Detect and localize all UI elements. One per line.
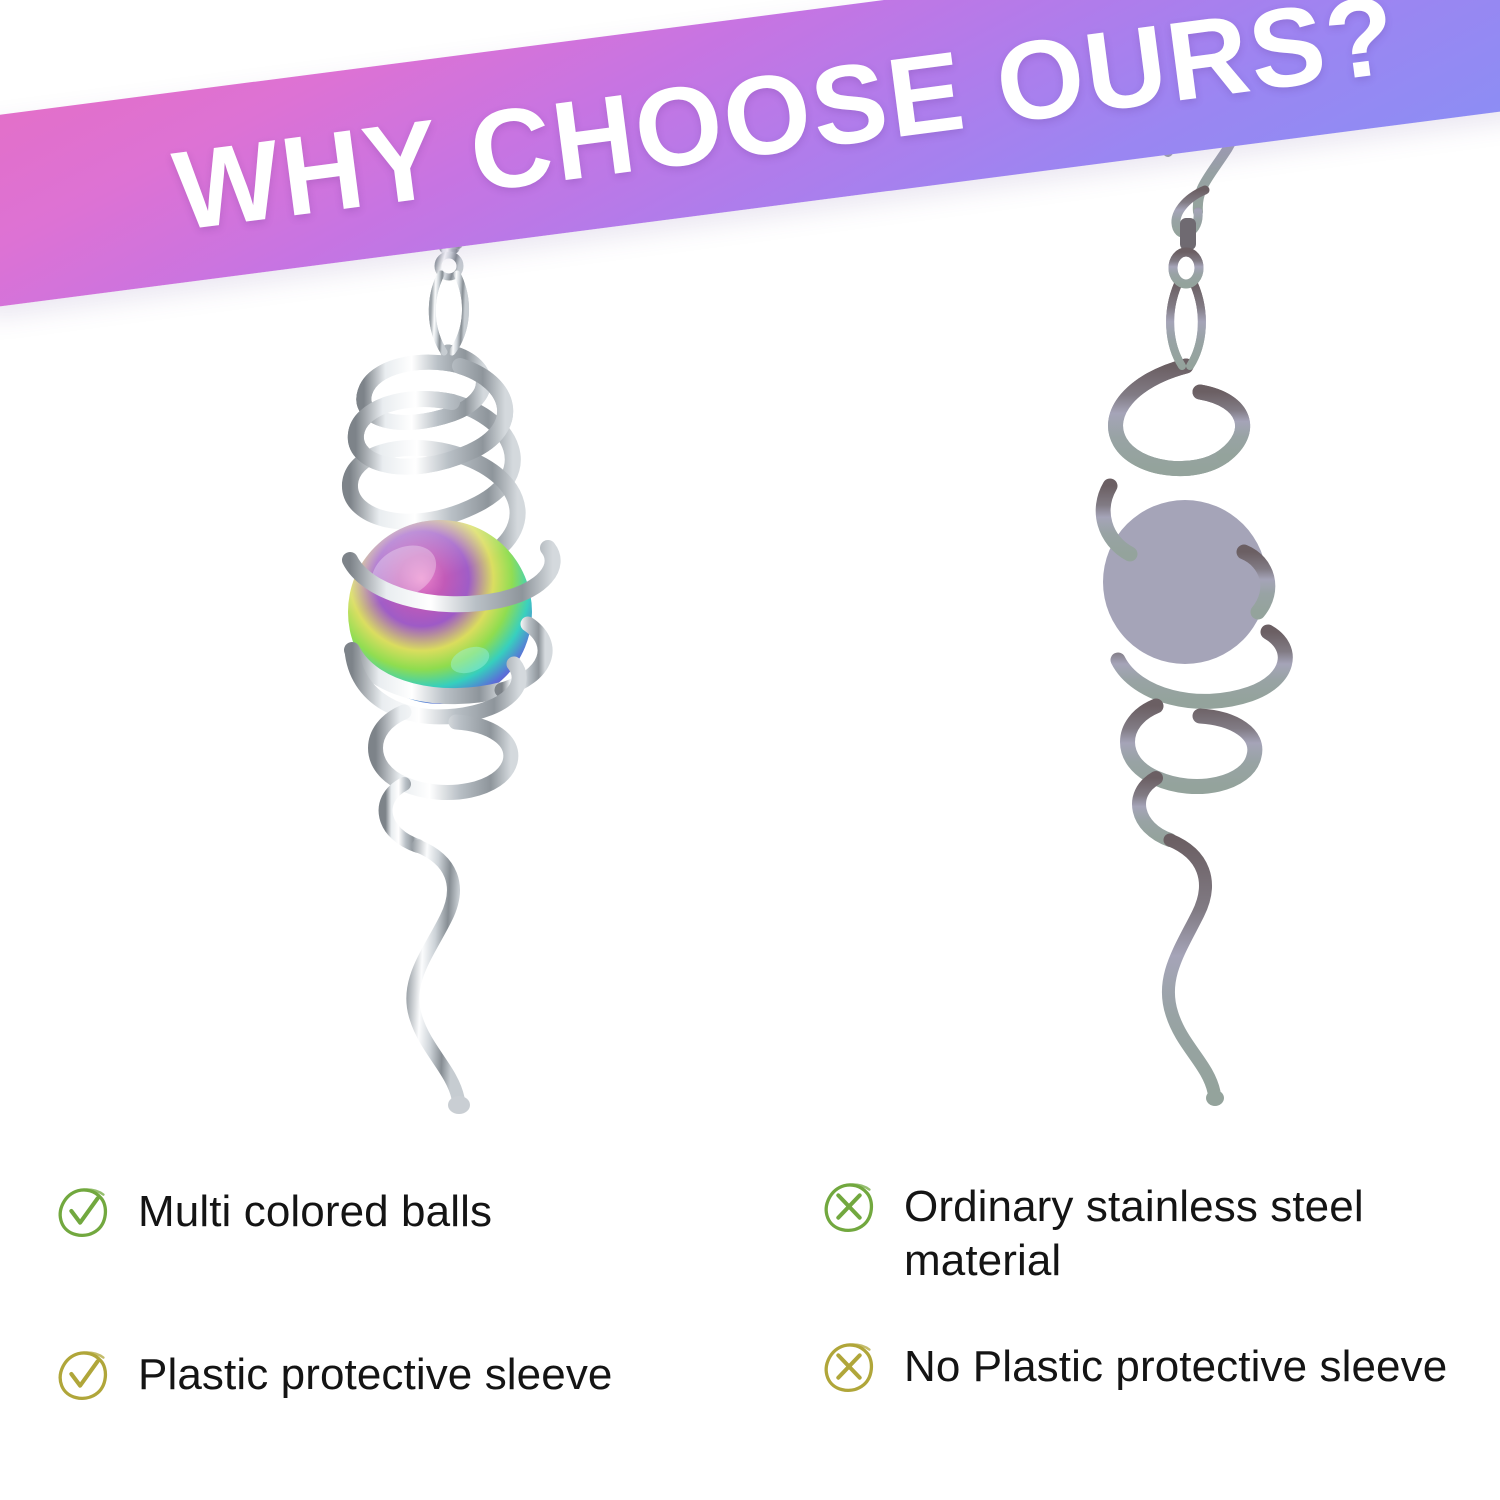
feature-lists: Multi colored balls Plastic protective s…	[0, 0, 1500, 1500]
feature-label: No Plastic protective sleeve	[904, 1340, 1447, 1394]
feature-label: Plastic protective sleeve	[138, 1348, 613, 1402]
feature-item-ours-1: Multi colored balls	[52, 1185, 692, 1243]
check-circle-icon	[52, 1344, 114, 1406]
feature-item-theirs-1: Ordinary stainless steel material	[818, 1180, 1478, 1287]
cross-circle-icon	[818, 1176, 880, 1238]
cross-circle-icon	[818, 1336, 880, 1398]
infographic-canvas: WHY CHOOSE OURS? Multi color	[0, 0, 1500, 1500]
feature-label: Ordinary stainless steel material	[904, 1180, 1478, 1287]
feature-item-theirs-2: No Plastic protective sleeve	[818, 1340, 1478, 1398]
check-circle-icon	[52, 1181, 114, 1243]
feature-item-ours-2: Plastic protective sleeve	[52, 1348, 692, 1406]
feature-label: Multi colored balls	[138, 1185, 492, 1239]
